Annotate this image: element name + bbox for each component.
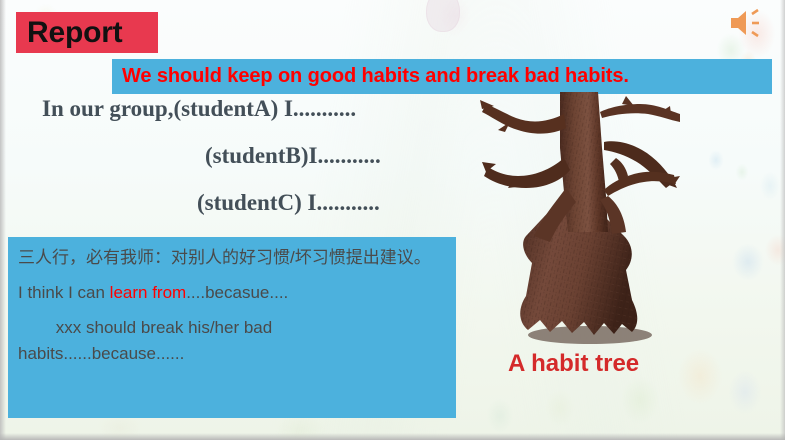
slide-edge-bottom [0, 433, 785, 440]
report-lines-group: In our group,(studentA) I........... (st… [22, 95, 472, 214]
habit-tree-illustration [472, 92, 702, 347]
panel-english-line-3: habits......because...... [18, 341, 446, 367]
panel-line-1-suffix: ....becasue.... [186, 283, 288, 302]
slide-edge-right [780, 0, 785, 440]
page-title-box: Report [16, 12, 158, 53]
panel-english-line-1: I think I can learn from....becasue.... [18, 280, 446, 306]
report-line-student-a: In our group,(studentA) I........... [42, 97, 472, 120]
slide-canvas: Report We should keep on good habits and… [0, 0, 785, 440]
headline-banner: We should keep on good habits and break … [112, 59, 772, 94]
slide-edge-left [0, 0, 6, 440]
headline-text: We should keep on good habits and break … [122, 65, 629, 88]
panel-line-1-prefix: I think I can [18, 283, 110, 302]
report-line-student-b: (studentB)I........... [205, 144, 472, 167]
page-title: Report [27, 18, 122, 48]
panel-line-1-accent: learn from [110, 283, 187, 302]
instruction-panel: 三人行，必有我师：对别人的好习惯/坏习惯提出建议。 I think I can … [8, 237, 456, 418]
panel-chinese-line: 三人行，必有我师：对别人的好习惯/坏习惯提出建议。 [18, 245, 446, 271]
speaker-icon[interactable] [725, 6, 767, 40]
report-line-student-c: (studentC) I........... [197, 191, 472, 214]
tree-caption: A habit tree [508, 350, 639, 378]
panel-english-line-2: xxx should break his/her bad [18, 315, 446, 341]
